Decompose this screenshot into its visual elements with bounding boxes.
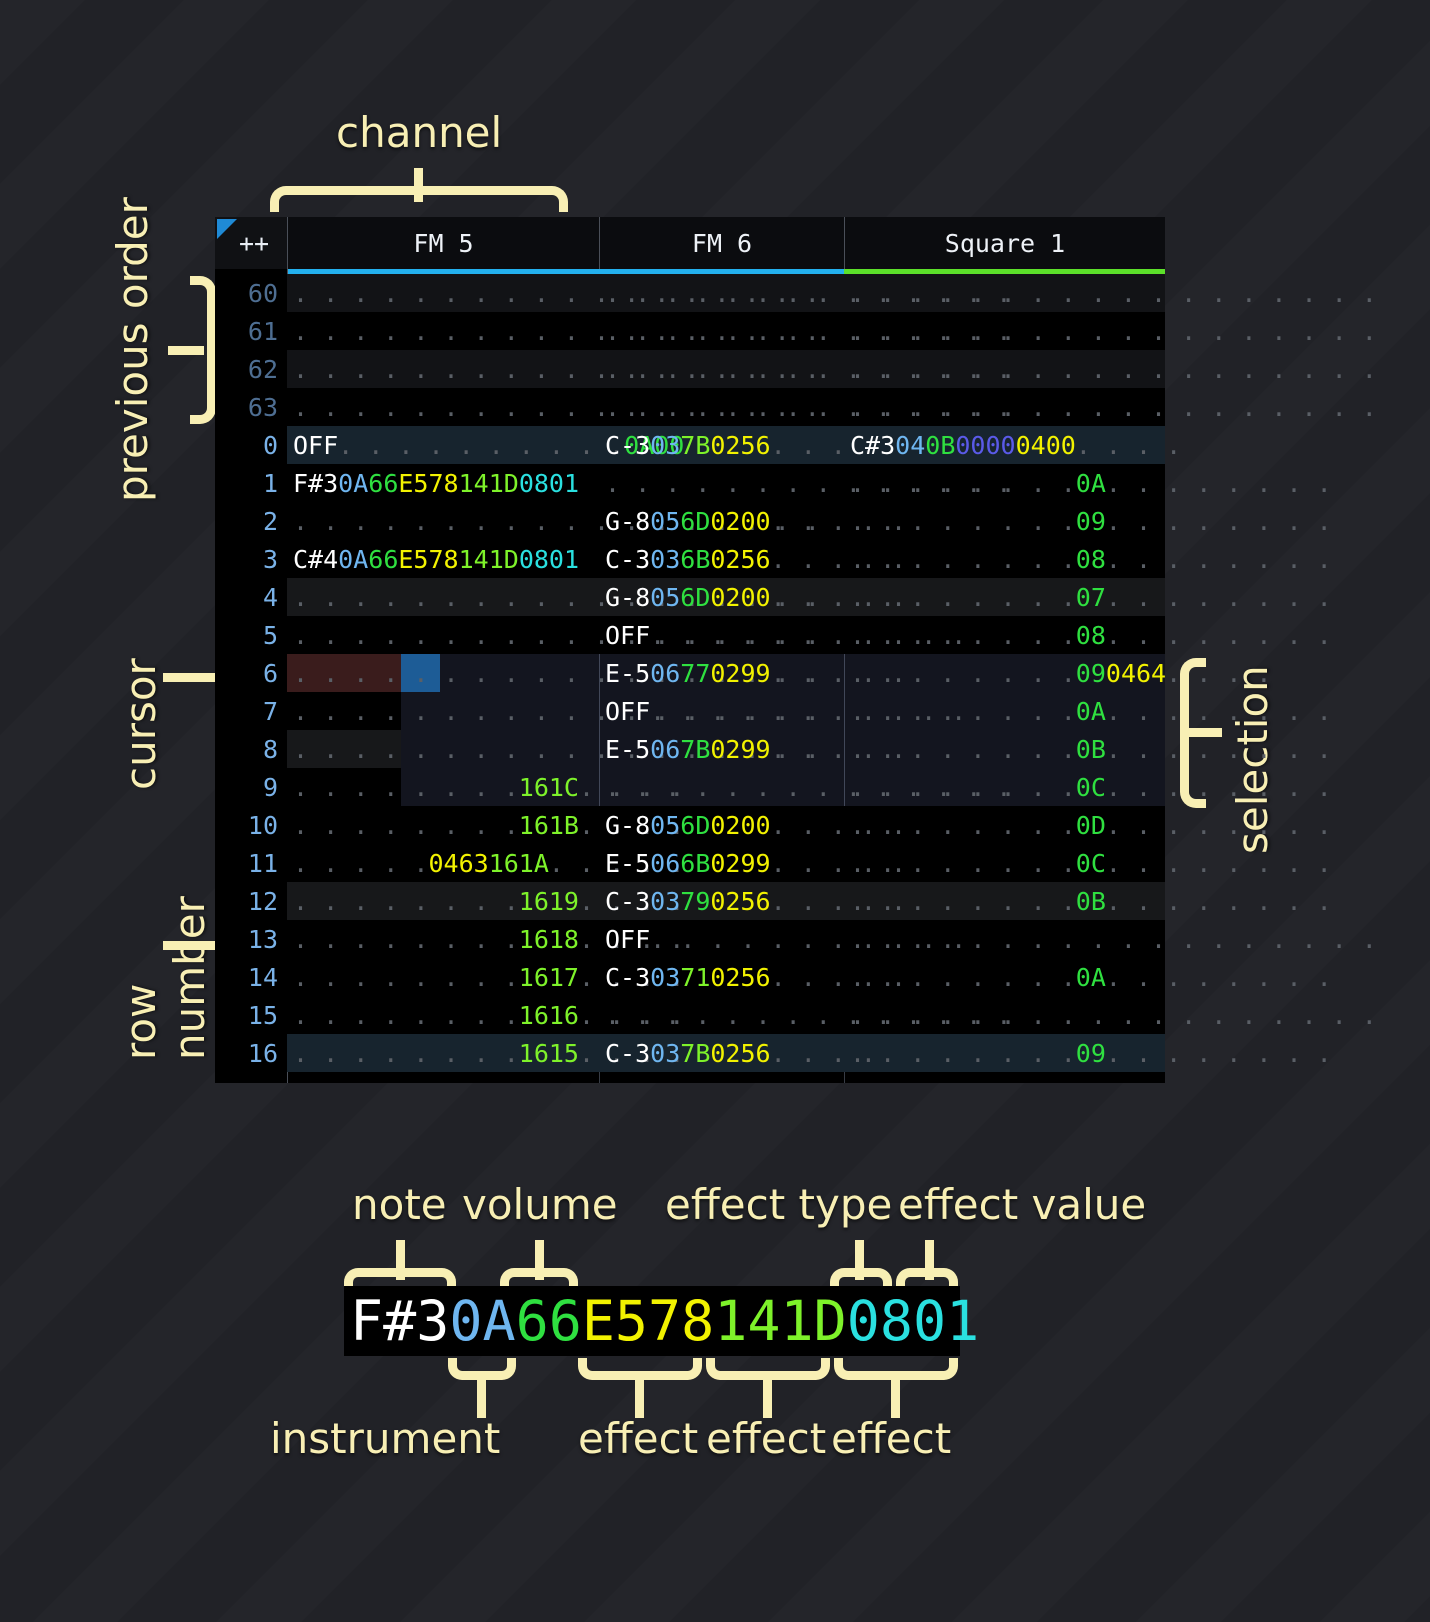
corner-label: ++ [239, 229, 269, 258]
row-cell-square1[interactable]: . . . . . . . . . . . . . . . . . . [850, 996, 1377, 1034]
channel-stem [414, 168, 423, 202]
row-cell-square1[interactable]: . . . . . . . . . . . . . . . . . . [850, 920, 1377, 958]
note-stem [396, 1240, 405, 1280]
effect-c-stem [891, 1378, 900, 1418]
row-cell-square1[interactable]: . . . . . . . .090464. . . . [850, 654, 1271, 692]
row-number-cell: 15 [215, 996, 287, 1034]
pattern-tracker[interactable]: ++ FM 5 FM 6 Square 1 60 . . . . . . . .… [215, 217, 1165, 1083]
legend-pattern-cell: F#30A66E578141D0801 [344, 1286, 960, 1356]
legend-effect2-value: 1D [781, 1289, 847, 1353]
channel-header-label: FM 6 [692, 229, 752, 258]
legend-effect2-type: 14 [714, 1289, 780, 1353]
row-cell-square1[interactable]: . . . . . . . .0A. . . . . . . . [850, 692, 1332, 730]
row-cell-fm6[interactable]: C-3037B0256. . . . [605, 1034, 876, 1072]
channel-header-fm5[interactable]: FM 5 [287, 217, 599, 269]
row-number-cell: 8 [215, 730, 287, 768]
row-cell-square1[interactable]: . . . . . . . .0B. . . . . . . . [850, 882, 1332, 920]
channel-header-label: Square 1 [945, 229, 1065, 258]
annotation-effect-b: effect [706, 1414, 826, 1463]
row-cell-fm5[interactable]: C#40A66E578141D0801 [293, 540, 579, 578]
effect-a-bracket [578, 1358, 702, 1380]
row-number-cell: 16 [215, 1034, 287, 1072]
channel-header-label: FM 5 [413, 229, 473, 258]
previous-order-stem [168, 346, 204, 355]
effect-value-stem [925, 1240, 934, 1280]
row-cells-prev: . . . . . . . . . . . . . . . . . . [850, 312, 1377, 350]
row-number-cell: 7 [215, 692, 287, 730]
row-cell-square1[interactable]: . . . . . . . .0C. . . . . . . . [850, 768, 1332, 806]
row-number-cell: 5 [215, 616, 287, 654]
effect-type-stem [855, 1240, 864, 1280]
row-cell-square1[interactable]: . . . . . . . .08. . . . . . . . [850, 540, 1332, 578]
annotation-effect-a: effect [578, 1414, 698, 1463]
row-cell-square1[interactable]: . . . . . . . .09. . . . . . . . [850, 1034, 1332, 1072]
legend-effect3-type: 08 [847, 1289, 913, 1353]
row-number-cell: 12 [215, 882, 287, 920]
row-cell-square1[interactable]: . . . . . . . .09. . . . . . . . [850, 502, 1332, 540]
row-number-stem [163, 941, 223, 950]
legend-volume: 66 [516, 1289, 582, 1353]
row-cell-fm6[interactable]: C-3037B0256. . . . [605, 426, 876, 464]
annotation-channel: channel [336, 108, 502, 157]
legend-instrument: 0A [449, 1289, 515, 1353]
row-number-cell: 6 [215, 654, 287, 692]
row-number-cell: 1 [215, 464, 287, 502]
row-cell-square1[interactable]: . . . . . . . .08. . . . . . . . [850, 616, 1332, 654]
row-number-cell: 9 [215, 768, 287, 806]
row-number-cell: 10 [215, 806, 287, 844]
tracker-corner: ++ [215, 217, 287, 269]
order-marker-icon [217, 219, 237, 239]
annotation-previous-order: previous order [108, 192, 157, 502]
annotation-effect-value: effect value [898, 1180, 1146, 1229]
legend-effect1-type: E5 [582, 1289, 648, 1353]
annotation-note: note [352, 1180, 447, 1229]
row-cell-square1[interactable]: . . . . . . . .0A. . . . . . . . [850, 464, 1332, 502]
annotation-instrument: instrument [270, 1414, 500, 1463]
legend-effect1-value: 78 [648, 1289, 714, 1353]
row-number-cell: 62 [215, 350, 287, 388]
row-number-cell: 0 [215, 426, 287, 464]
row-number-cell: 2 [215, 502, 287, 540]
annotation-effect-type: effect type [665, 1180, 892, 1229]
effect-a-stem [635, 1378, 644, 1418]
row-cell-square1[interactable]: . . . . . . . .0C. . . . . . . . [850, 844, 1332, 882]
row-number-cell: 14 [215, 958, 287, 996]
row-cell-square1[interactable]: . . . . . . . .0D. . . . . . . . [850, 806, 1332, 844]
legend-note: F#3 [350, 1289, 449, 1353]
annotation-volume: volume [462, 1180, 618, 1229]
effect-b-bracket [706, 1358, 830, 1380]
row-cells-prev: . . . . . . . . . . . . . . . . . . [850, 274, 1377, 312]
row-cell-square1[interactable]: . . . . . . . .0B. . . . . . . . [850, 730, 1332, 768]
annotation-cursor: cursor [116, 630, 165, 790]
row-cells-prev: . . . . . . . . . . . . . . . . . . [850, 388, 1377, 426]
row-number-cell: 63 [215, 388, 287, 426]
row-cells-prev: . . . . . . . . . . . . . . . . . . [850, 350, 1377, 388]
row-cell-square1[interactable]: . . . . . . . .07. . . . . . . . [850, 578, 1332, 616]
effect-b-stem [763, 1378, 772, 1418]
channel-header-square1[interactable]: Square 1 [844, 217, 1165, 269]
instrument-stem [477, 1378, 486, 1418]
row-number-cell: 3 [215, 540, 287, 578]
channel-header-fm6[interactable]: FM 6 [599, 217, 844, 269]
instrument-bracket [448, 1358, 516, 1380]
row-cell-fm5[interactable]: F#30A66E578141D0801 [293, 464, 579, 502]
row-number-cell: 60 [215, 274, 287, 312]
row-number-cell: 11 [215, 844, 287, 882]
effect-c-bracket [834, 1358, 958, 1380]
row-number-cell: 13 [215, 920, 287, 958]
row-number-cell: 4 [215, 578, 287, 616]
row-number-cell: 61 [215, 312, 287, 350]
legend-effect3-value: 01 [913, 1289, 979, 1353]
annotation-effect-c: effect [831, 1414, 951, 1463]
volume-stem [535, 1240, 544, 1280]
row-cell-square1[interactable]: C#3040B00000400. . . . [850, 426, 1181, 464]
row-cell-square1[interactable]: . . . . . . . .0A. . . . . . . . [850, 958, 1332, 996]
